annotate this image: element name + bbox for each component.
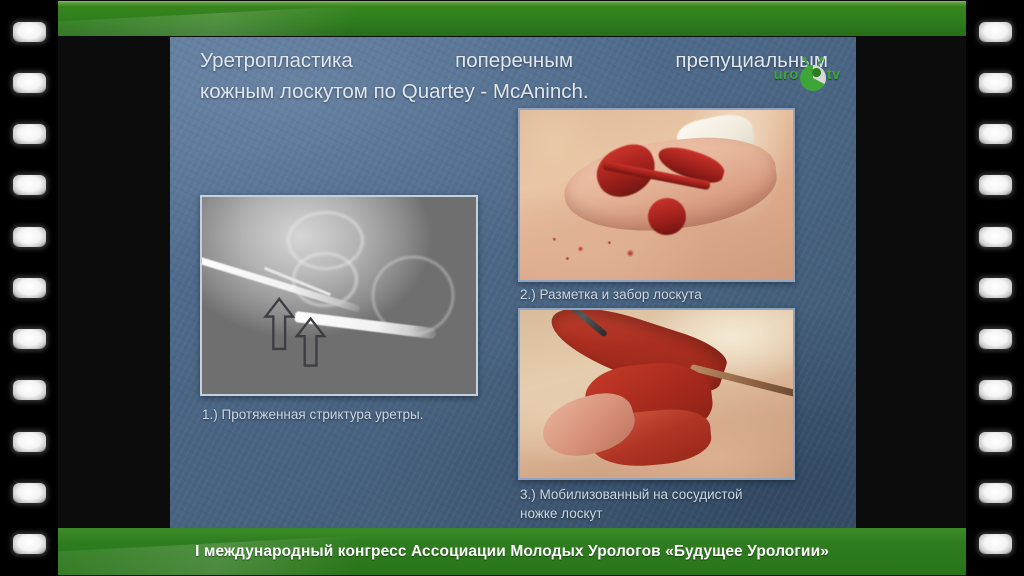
filmstrip-left <box>0 0 58 576</box>
sprocket-hole <box>13 329 46 349</box>
urotv-logo: uro tv <box>766 51 848 97</box>
sprocket-hole <box>13 278 46 298</box>
sprocket-hole <box>979 483 1012 503</box>
sprocket-hole <box>979 432 1012 452</box>
sprocket-hole <box>13 175 46 195</box>
stricture-arrow-markers <box>202 197 476 394</box>
sprocket-hole <box>979 227 1012 247</box>
figure-caption-3: 3.) Мобилизованный на сосудистой ножке л… <box>520 485 780 523</box>
sprocket-hole <box>13 432 46 452</box>
sprocket-hole <box>13 124 46 144</box>
top-green-bar <box>58 1 966 36</box>
beetle-icon <box>796 54 830 94</box>
sprocket-hole <box>979 278 1012 298</box>
sprocket-hole <box>13 534 46 554</box>
sprocket-hole <box>979 175 1012 195</box>
figure-caption-2: 2.) Разметка и забор лоскута <box>520 285 790 304</box>
slide-title: Уретропластика поперечным препуциальным … <box>200 45 828 107</box>
sprocket-hole <box>979 124 1012 144</box>
sprocket-hole <box>13 483 46 503</box>
figure-mobilized-flap-photo <box>518 308 795 480</box>
sprocket-hole <box>979 22 1012 42</box>
sprocket-hole <box>979 329 1012 349</box>
congress-banner-text: I международный конгресс Ассоциации Моло… <box>195 543 829 561</box>
sprocket-hole <box>979 380 1012 400</box>
slide-title-line-2: кожным лоскутом по Quartey - McAninch. <box>200 76 828 107</box>
bar-sheen <box>58 1 513 36</box>
sprocket-hole <box>13 380 46 400</box>
slide-title-line-1: Уретропластика поперечным препуциальным <box>200 45 828 76</box>
filmstrip-right <box>966 0 1024 576</box>
bottom-green-banner: I международный конгресс Ассоциации Моло… <box>58 528 966 575</box>
figure-flap-marking-photo <box>518 108 795 282</box>
figure-urethrogram-xray <box>200 195 478 396</box>
sprocket-hole <box>13 227 46 247</box>
photo-blood-spray <box>536 226 667 270</box>
sprocket-hole <box>13 22 46 42</box>
sprocket-hole <box>979 534 1012 554</box>
presentation-slide: Уретропластика поперечным препуциальным … <box>170 37 856 528</box>
figure-caption-1: 1.) Протяженная стриктура уретры. <box>202 405 452 424</box>
video-frame-viewer: Уретропластика поперечным препуциальным … <box>0 0 1024 576</box>
sprocket-hole <box>979 73 1012 93</box>
sprocket-hole <box>13 73 46 93</box>
